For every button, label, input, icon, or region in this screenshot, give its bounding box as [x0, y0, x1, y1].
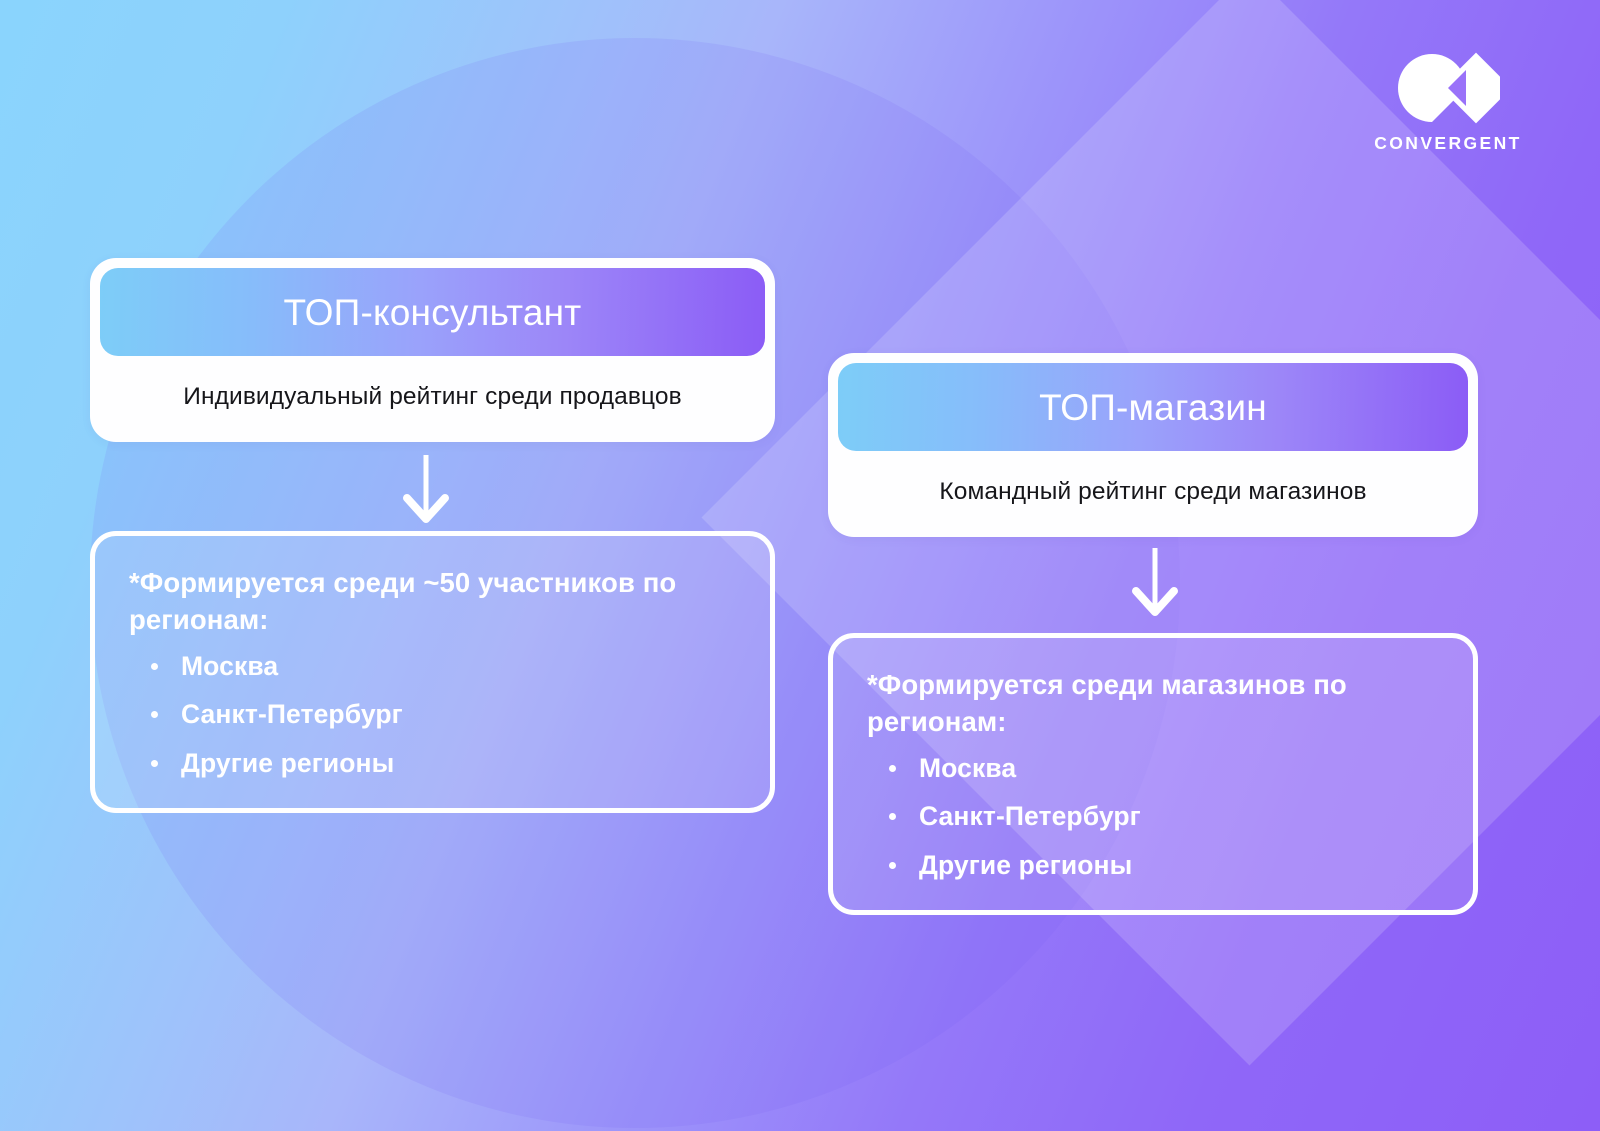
- card-header-top-store: ТОП-магазин: [838, 363, 1468, 451]
- detail-heading: *Формируется среди ~50 участников по рег…: [129, 564, 736, 638]
- bullet-icon: [151, 760, 158, 767]
- card-subtitle: Командный рейтинг среди магазинов: [838, 478, 1468, 506]
- bullet-icon: [889, 813, 896, 820]
- brand-wordmark: CONVERGENT: [1374, 133, 1522, 154]
- detail-box-top-consultant: *Формируется среди ~50 участников по рег…: [90, 531, 775, 813]
- bullet-icon: [151, 711, 158, 718]
- list-item: Санкт-Петербург: [151, 700, 736, 729]
- list-item: Санкт-Петербург: [889, 802, 1439, 831]
- slide-canvas: CONVERGENT ТОП-консультант Индивидуальны…: [0, 0, 1600, 1131]
- list-item-label: Другие регионы: [181, 748, 394, 778]
- list-item: Москва: [151, 652, 736, 681]
- arrow-down-icon-consultant: [398, 455, 454, 527]
- card-top-consultant: ТОП-консультант Индивидуальный рейтинг с…: [90, 258, 775, 442]
- card-title: ТОП-консультант: [284, 294, 582, 331]
- bullet-icon: [889, 765, 896, 772]
- list-item: Другие регионы: [889, 851, 1439, 880]
- detail-heading: *Формируется среди магазинов по регионам…: [867, 666, 1439, 740]
- card-title: ТОП-магазин: [1039, 389, 1267, 426]
- list-item-label: Москва: [919, 753, 1016, 783]
- list-item-label: Москва: [181, 651, 278, 681]
- detail-region-list: Москва Санкт-Петербург Другие регионы: [129, 652, 736, 777]
- bullet-icon: [151, 663, 158, 670]
- card-top-store: ТОП-магазин Командный рейтинг среди мага…: [828, 353, 1478, 537]
- brand-logo: CONVERGENT: [1374, 52, 1522, 154]
- card-header-top-consultant: ТОП-консультант: [100, 268, 765, 356]
- list-item-label: Санкт-Петербург: [919, 801, 1141, 831]
- detail-box-top-store: *Формируется среди магазинов по регионам…: [828, 633, 1478, 915]
- detail-region-list: Москва Санкт-Петербург Другие регионы: [867, 754, 1439, 879]
- list-item-label: Другие регионы: [919, 850, 1132, 880]
- list-item-label: Санкт-Петербург: [181, 699, 403, 729]
- card-subtitle: Индивидуальный рейтинг среди продавцов: [100, 383, 765, 411]
- list-item: Другие регионы: [151, 749, 736, 778]
- convergent-circle-diamond-logo-icon: [1396, 52, 1500, 124]
- arrow-down-icon-store: [1127, 548, 1183, 620]
- bullet-icon: [889, 862, 896, 869]
- list-item: Москва: [889, 754, 1439, 783]
